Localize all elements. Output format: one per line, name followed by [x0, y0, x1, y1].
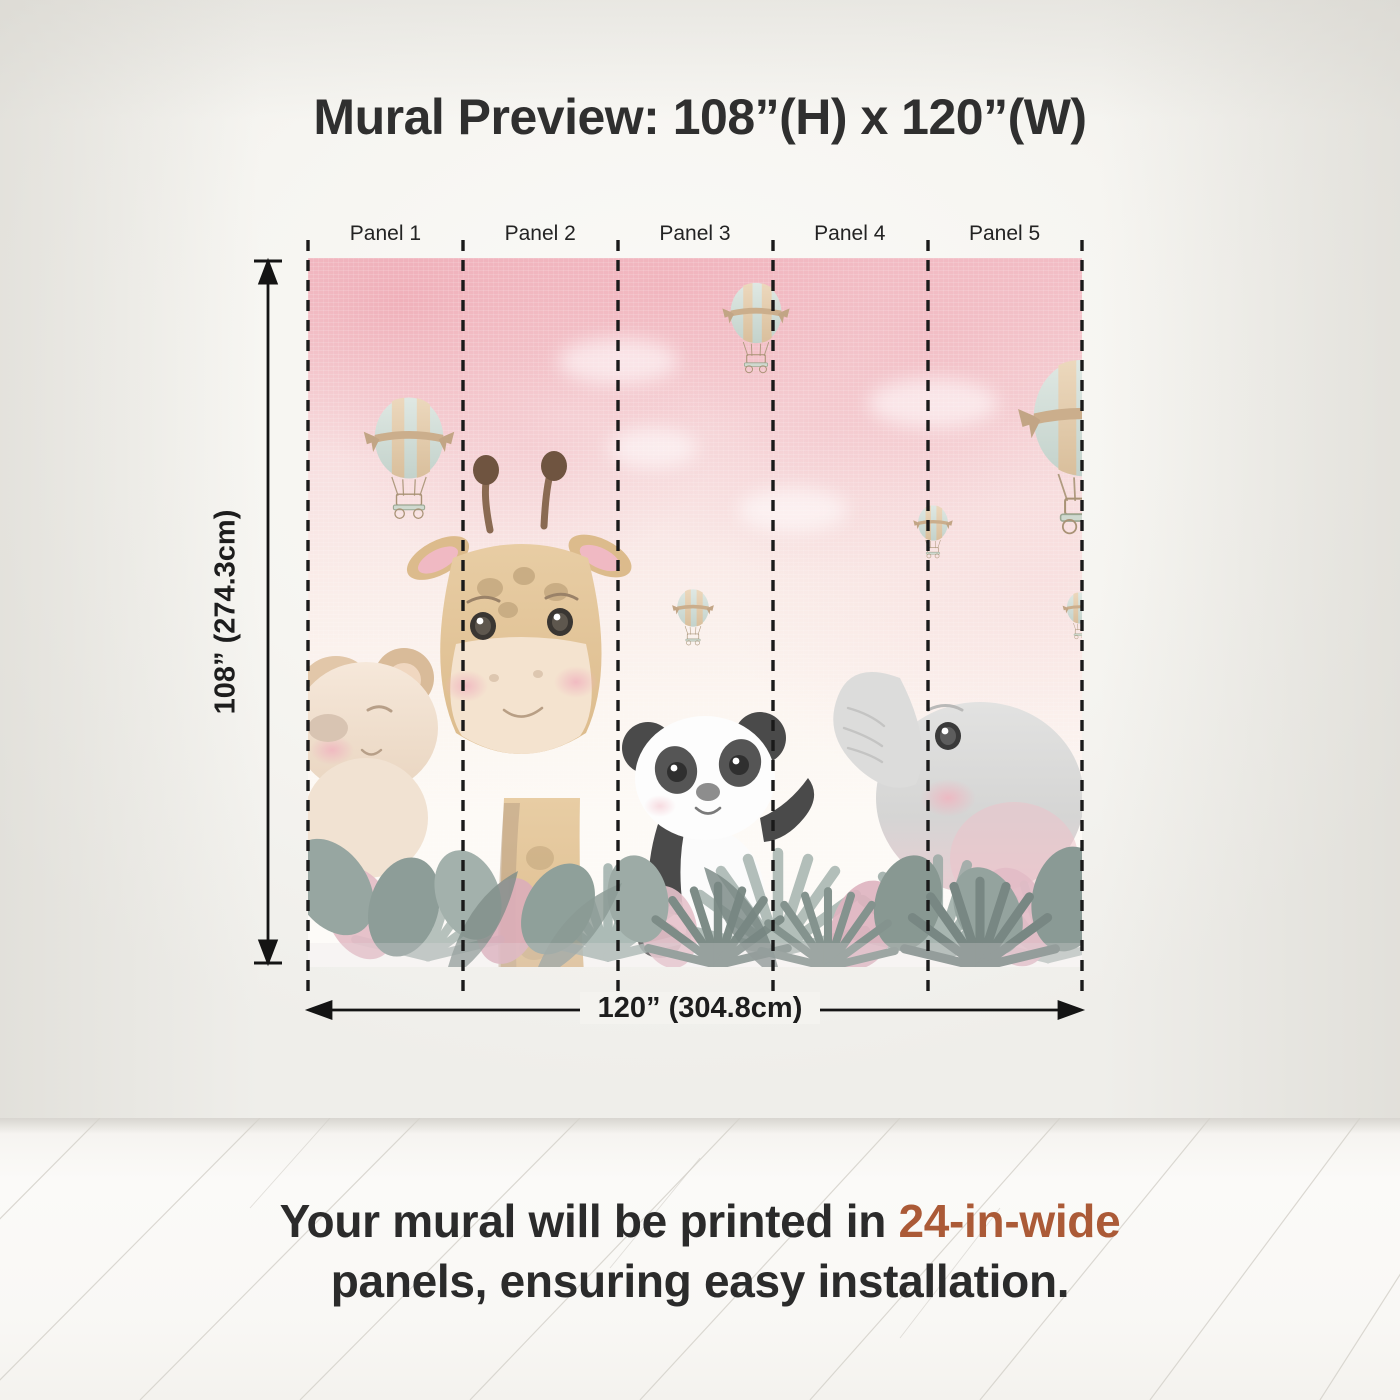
balloon-panel5-edge: [1063, 592, 1082, 639]
footer-caption: Your mural will be printed in 24-in-wide…: [0, 1192, 1400, 1312]
mural-artwork: [308, 258, 1082, 967]
width-dimension-label: 120” (304.8cm): [0, 992, 1400, 1025]
panel-label-row: Panel 1 Panel 2 Panel 3 Panel 4 Panel 5: [308, 218, 1082, 250]
caption-accent-panel-width: 24-in-wide: [898, 1195, 1120, 1247]
width-dimension-text: 120” (304.8cm): [580, 992, 821, 1024]
caption-line-1: Your mural will be printed in 24-in-wide: [0, 1192, 1400, 1252]
panel-label-2: Panel 2: [463, 218, 618, 250]
panel-label-4: Panel 4: [772, 218, 927, 250]
balloon-panel3-top: [722, 283, 789, 373]
balloon-panel5-large: [1018, 360, 1082, 534]
wall-right-shading: [1100, 0, 1400, 1118]
height-dimension-label: 108” (274.3cm): [210, 442, 243, 782]
balloon-panel4-small: [913, 505, 952, 558]
foliage-band: [308, 707, 1082, 967]
panel-label-3: Panel 3: [618, 218, 773, 250]
panel-label-5: Panel 5: [927, 218, 1082, 250]
balloon-panel3-small: [672, 589, 714, 645]
page-title: Mural Preview: 108”(H) x 120”(W): [0, 88, 1400, 146]
caption-line-2: panels, ensuring easy installation.: [0, 1252, 1400, 1312]
mural-preview-scene: Mural Preview: 108”(H) x 120”(W) Panel 1…: [0, 0, 1400, 1400]
panel-label-1: Panel 1: [308, 218, 463, 250]
balloon-panel1: [364, 397, 454, 518]
caption-line1-prefix: Your mural will be printed in: [280, 1195, 899, 1247]
